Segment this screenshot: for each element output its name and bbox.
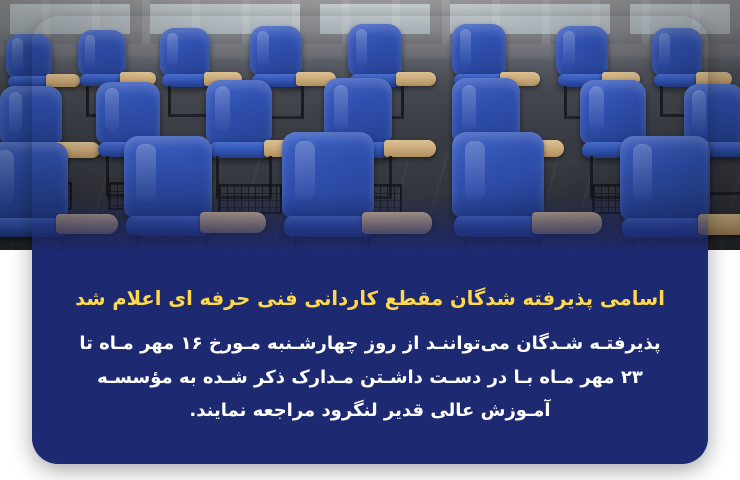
card-text-area: اسامی پذیرفته شدگان مقطع کاردانی فنی حرف… [32,254,708,464]
card-photo-window [32,16,708,254]
classroom-photo [32,16,708,250]
poster: اسامی پذیرفته شدگان مقطع کاردانی فنی حرف… [0,0,740,480]
announcement-body: پذیرفتـه شـدگان می‌تواننـد از روز چهارشـ… [70,327,670,427]
announcement-headline: اسامی پذیرفته شدگان مقطع کاردانی فنی حرف… [70,284,670,313]
announcement-card: اسامی پذیرفته شدگان مقطع کاردانی فنی حرف… [32,16,708,464]
